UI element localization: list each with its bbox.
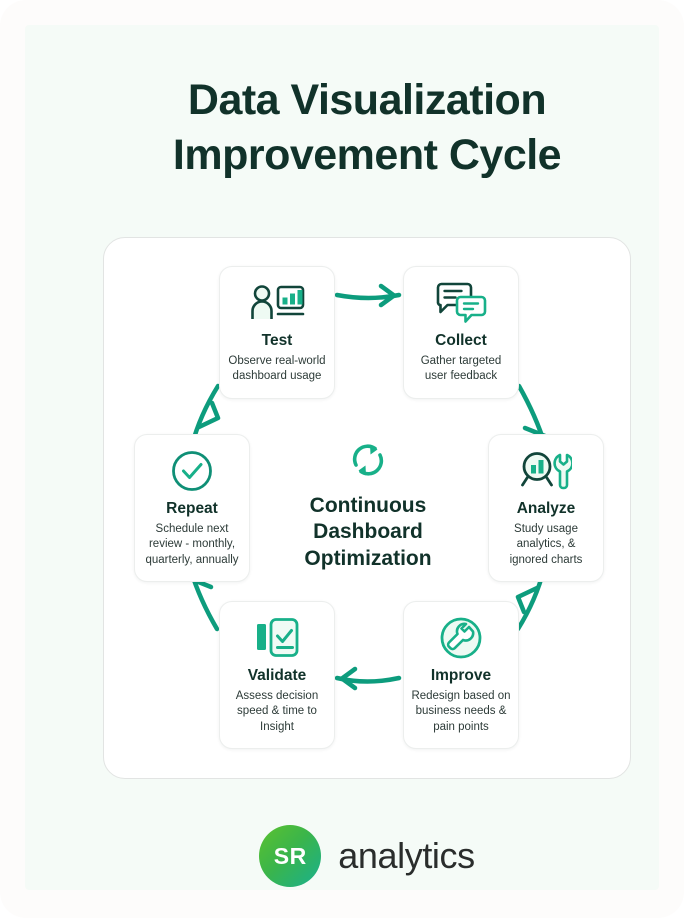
- card-desc-collect: Gather targeted user feedback: [411, 354, 511, 385]
- brand-logo: SR analytics: [50, 825, 684, 887]
- user-dashboard-icon: [227, 281, 327, 325]
- card-desc-analyze: Study usage analytics, & ignored charts: [496, 522, 596, 568]
- card-title-analyze: Analyze: [496, 500, 596, 518]
- chat-bubbles-icon: [411, 281, 511, 325]
- page-title-line-1: Data Visualization: [50, 73, 684, 128]
- cycle-card-collect[interactable]: Collect Gather targeted user feedback: [403, 266, 519, 399]
- page-title-line-2: Improvement Cycle: [50, 128, 684, 183]
- card-title-validate: Validate: [227, 667, 327, 685]
- refresh-cycle-icon: [266, 441, 470, 479]
- cycle-card-validate[interactable]: Validate Assess decision speed & time to…: [219, 601, 335, 749]
- logo-badge: SR: [259, 825, 321, 887]
- page-title: Data Visualization Improvement Cycle: [50, 73, 684, 183]
- logo-wordmark: analytics: [338, 835, 474, 877]
- check-circle-icon: [142, 449, 242, 493]
- card-title-repeat: Repeat: [142, 500, 242, 518]
- cycle-hub: Continuous Dashboard Optimization: [266, 441, 470, 572]
- cycle-card-analyze[interactable]: Analyze Study usage analytics, & ignored…: [488, 434, 604, 582]
- checklist-document-icon: [227, 616, 327, 660]
- poster-panel: Data Visualization Improvement Cycle: [25, 25, 659, 890]
- card-title-test: Test: [227, 332, 327, 350]
- card-desc-improve: Redesign based on business needs & pain …: [411, 689, 511, 735]
- arrow-improve-to-validate: [337, 669, 399, 688]
- arrow-test-to-collect: [337, 286, 399, 305]
- poster-frame: Data Visualization Improvement Cycle: [0, 0, 684, 918]
- hub-line-1: Continuous: [266, 493, 470, 519]
- cycle-hub-label: Continuous Dashboard Optimization: [266, 493, 470, 572]
- hub-line-2: Dashboard: [266, 519, 470, 545]
- card-title-improve: Improve: [411, 667, 511, 685]
- wrench-circle-icon: [411, 616, 511, 660]
- cycle-card-test[interactable]: Test Observe real-world dashboard usage: [219, 266, 335, 399]
- cycle-diagram: Continuous Dashboard Optimization: [103, 237, 631, 779]
- hub-line-3: Optimization: [266, 546, 470, 572]
- cycle-card-improve[interactable]: Improve Redesign based on business needs…: [403, 601, 519, 749]
- cycle-card-repeat[interactable]: Repeat Schedule next review - monthly, q…: [134, 434, 250, 582]
- card-desc-repeat: Schedule next review - monthly, quarterl…: [142, 522, 242, 568]
- card-title-collect: Collect: [411, 332, 511, 350]
- card-desc-validate: Assess decision speed & time to Insight: [227, 689, 327, 735]
- magnifier-chart-wrench-icon: [496, 449, 596, 493]
- card-desc-test: Observe real-world dashboard usage: [227, 354, 327, 385]
